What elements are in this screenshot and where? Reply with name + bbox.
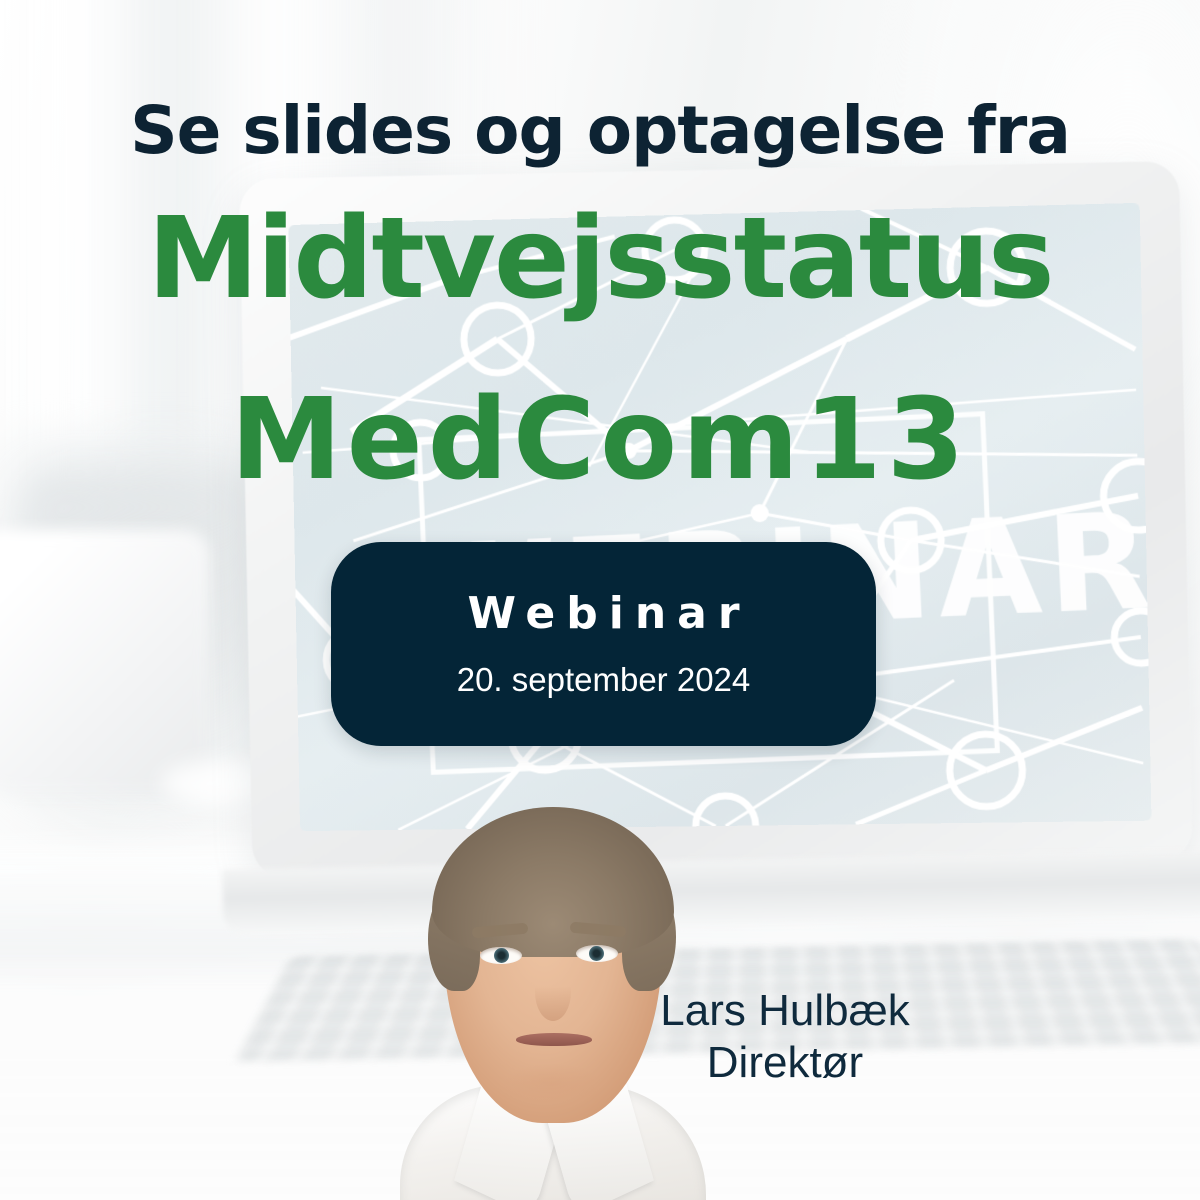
portrait-iris-right	[589, 946, 604, 961]
webinar-badge: Webinar 20. september 2024	[331, 542, 876, 746]
page-title-line-1: Midtvejsstatus	[0, 203, 1200, 315]
webinar-promo-poster: WEBINAR Se slides og optagelse fra Midtv…	[0, 0, 1200, 1200]
page-title-kicker: Se slides og optagelse fra	[0, 98, 1200, 164]
portrait-hair	[432, 807, 674, 957]
background-coffee-cup	[0, 530, 210, 795]
portrait-iris-left	[494, 948, 509, 963]
page-title-line-2: MedCom13	[0, 384, 1200, 496]
speaker-name: Lars Hulbæk	[620, 985, 950, 1037]
badge-label: Webinar	[456, 592, 750, 636]
portrait-nose	[535, 963, 571, 1021]
speaker-caption: Lars Hulbæk Direktør	[620, 985, 950, 1089]
badge-date: 20. september 2024	[457, 663, 751, 696]
speaker-role: Direktør	[620, 1037, 950, 1089]
portrait-chin	[502, 1063, 602, 1103]
portrait-mouth	[516, 1033, 592, 1046]
